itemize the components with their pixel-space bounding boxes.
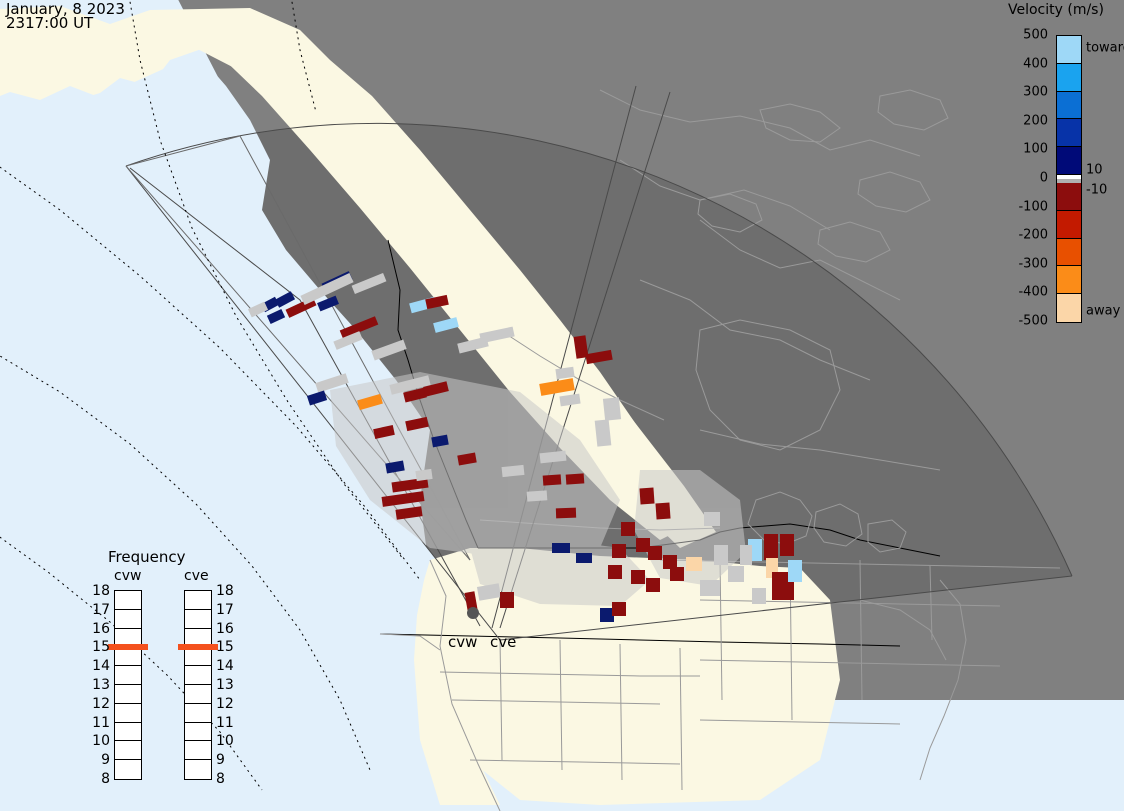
velocity-cell (556, 508, 576, 519)
colorbar-tick-200: 200 (1004, 113, 1048, 128)
velocity-cell (543, 474, 562, 485)
frequency-cell (115, 666, 141, 685)
colorbar-tick-0: 0 (1004, 171, 1048, 186)
frequency-cell (185, 591, 211, 610)
frequency-cell (115, 591, 141, 610)
frequency-tick-cve-14: 14 (216, 658, 240, 674)
velocity-cell (639, 488, 654, 505)
velocity-cell (663, 555, 677, 569)
frequency-tick-cve-8: 8 (216, 771, 240, 787)
velocity-cell (636, 538, 650, 552)
velocity-cell (714, 545, 728, 565)
colorbar-band-toward-0 (1057, 36, 1081, 64)
velocity-cell (728, 566, 744, 582)
colorbar-band-away-1 (1057, 211, 1081, 239)
frequency-cell (185, 666, 211, 685)
colorbar-tick--500: -500 (1004, 314, 1048, 329)
colorbar-band-away-3 (1057, 266, 1081, 294)
frequency-cell (185, 704, 211, 723)
velocity-cell (621, 522, 635, 536)
frequency-cell (115, 760, 141, 779)
frequency-scale-name-cvw: cvw (114, 568, 141, 584)
frequency-tick-cvw-18: 18 (86, 583, 110, 599)
colorbar-band-away-2 (1057, 239, 1081, 267)
frequency-tick-cvw-9: 9 (86, 752, 110, 768)
site-label-cve: cve (490, 633, 516, 651)
colorbar-title: Velocity (m/s) (1008, 2, 1104, 18)
frequency-tick-cve-17: 17 (216, 602, 240, 618)
frequency-tick-cve-16: 16 (216, 621, 240, 637)
colorbar-band-away-4 (1057, 294, 1081, 322)
site-label-cvw: cvw (448, 633, 477, 651)
velocity-cell (600, 608, 614, 622)
frequency-cell (185, 610, 211, 629)
velocity-colorbar: Velocity (m/s) 5004003002001000-100-200-… (1004, 2, 1124, 332)
frequency-cell (115, 704, 141, 723)
colorbar-tick-500: 500 (1004, 28, 1048, 43)
velocity-cell (612, 544, 626, 558)
frequency-title: Frequency (108, 548, 186, 566)
frequency-cell (115, 685, 141, 704)
velocity-cell (780, 534, 794, 556)
frequency-marker-cvw (108, 644, 148, 650)
colorbar-band-toward-4 (1057, 147, 1081, 175)
colorbar-note-plus10: 10 (1086, 163, 1103, 178)
velocity-cell (704, 512, 720, 526)
frequency-tick-cvw-17: 17 (86, 602, 110, 618)
frequency-tick-cvw-15: 15 (86, 639, 110, 655)
frequency-cell (115, 610, 141, 629)
velocity-cell (648, 546, 662, 560)
frequency-tick-cvw-13: 13 (86, 677, 110, 693)
frequency-tick-cve-13: 13 (216, 677, 240, 693)
frequency-tick-cve-15: 15 (216, 639, 240, 655)
velocity-cell (752, 588, 766, 604)
colorbar-tick-400: 400 (1004, 56, 1048, 71)
frequency-tick-cve-9: 9 (216, 752, 240, 768)
frequency-tick-cvw-16: 16 (86, 621, 110, 637)
velocity-cell (670, 567, 684, 581)
frequency-cell (185, 723, 211, 742)
velocity-cell (527, 490, 548, 501)
frequency-cell (115, 741, 141, 760)
velocity-cell (566, 473, 585, 484)
velocity-cell (700, 580, 720, 596)
colorbar-tick--300: -300 (1004, 256, 1048, 271)
frequency-legend: Frequency cvw18171615141312111098 cve181… (86, 548, 236, 788)
colorbar-gradient (1056, 35, 1082, 323)
frequency-marker-cve (178, 644, 218, 650)
velocity-cell (608, 565, 622, 579)
velocity-cell (576, 553, 592, 563)
frequency-scale-track-cvw[interactable] (114, 590, 142, 780)
velocity-cell (500, 592, 514, 608)
colorbar-note-away: away (1086, 304, 1120, 319)
velocity-cell (788, 560, 802, 582)
radar-site-dot (467, 607, 479, 619)
frequency-tick-cvw-10: 10 (86, 733, 110, 749)
frequency-cell (185, 741, 211, 760)
velocity-cell (764, 534, 778, 560)
frequency-tick-cvw-11: 11 (86, 715, 110, 731)
velocity-cell (686, 557, 702, 571)
velocity-cell (552, 543, 570, 553)
colorbar-tick--200: -200 (1004, 228, 1048, 243)
frequency-tick-cve-11: 11 (216, 715, 240, 731)
velocity-cell (740, 545, 752, 565)
velocity-cell (631, 570, 645, 584)
frequency-cell (115, 723, 141, 742)
colorbar-band-toward-1 (1057, 64, 1081, 92)
frequency-tick-cve-18: 18 (216, 583, 240, 599)
frequency-tick-cve-12: 12 (216, 696, 240, 712)
frequency-cell (185, 760, 211, 779)
colorbar-tick-100: 100 (1004, 142, 1048, 157)
radar-map-view: January, 8 2023 2317:00 UT cvw cve Veloc… (0, 0, 1124, 811)
frequency-tick-cvw-12: 12 (86, 696, 110, 712)
title-time: 2317:00 UT (6, 16, 93, 31)
frequency-tick-cvw-8: 8 (86, 771, 110, 787)
velocity-cell (612, 602, 626, 616)
colorbar-tick-300: 300 (1004, 85, 1048, 100)
frequency-cell (185, 685, 211, 704)
colorbar-tick--100: -100 (1004, 199, 1048, 214)
frequency-tick-cve-10: 10 (216, 733, 240, 749)
frequency-scale-name-cve: cve (184, 568, 209, 584)
colorbar-band-toward-3 (1057, 119, 1081, 147)
colorbar-band-away-0 (1057, 183, 1081, 211)
velocity-cell (646, 578, 660, 592)
colorbar-side-labels: toward10-10away (1086, 27, 1124, 327)
colorbar-tick--400: -400 (1004, 285, 1048, 300)
colorbar-note-minus10: -10 (1086, 183, 1107, 198)
colorbar-note-toward: toward (1086, 41, 1124, 56)
frequency-scale-track-cve[interactable] (184, 590, 212, 780)
velocity-cell (655, 503, 670, 520)
velocity-cell (603, 397, 621, 421)
frequency-tick-cvw-14: 14 (86, 658, 110, 674)
colorbar-ticks: 5004003002001000-100-200-300-400-500 (1004, 27, 1052, 327)
colorbar-band-toward-2 (1057, 92, 1081, 120)
velocity-cell (595, 419, 612, 446)
